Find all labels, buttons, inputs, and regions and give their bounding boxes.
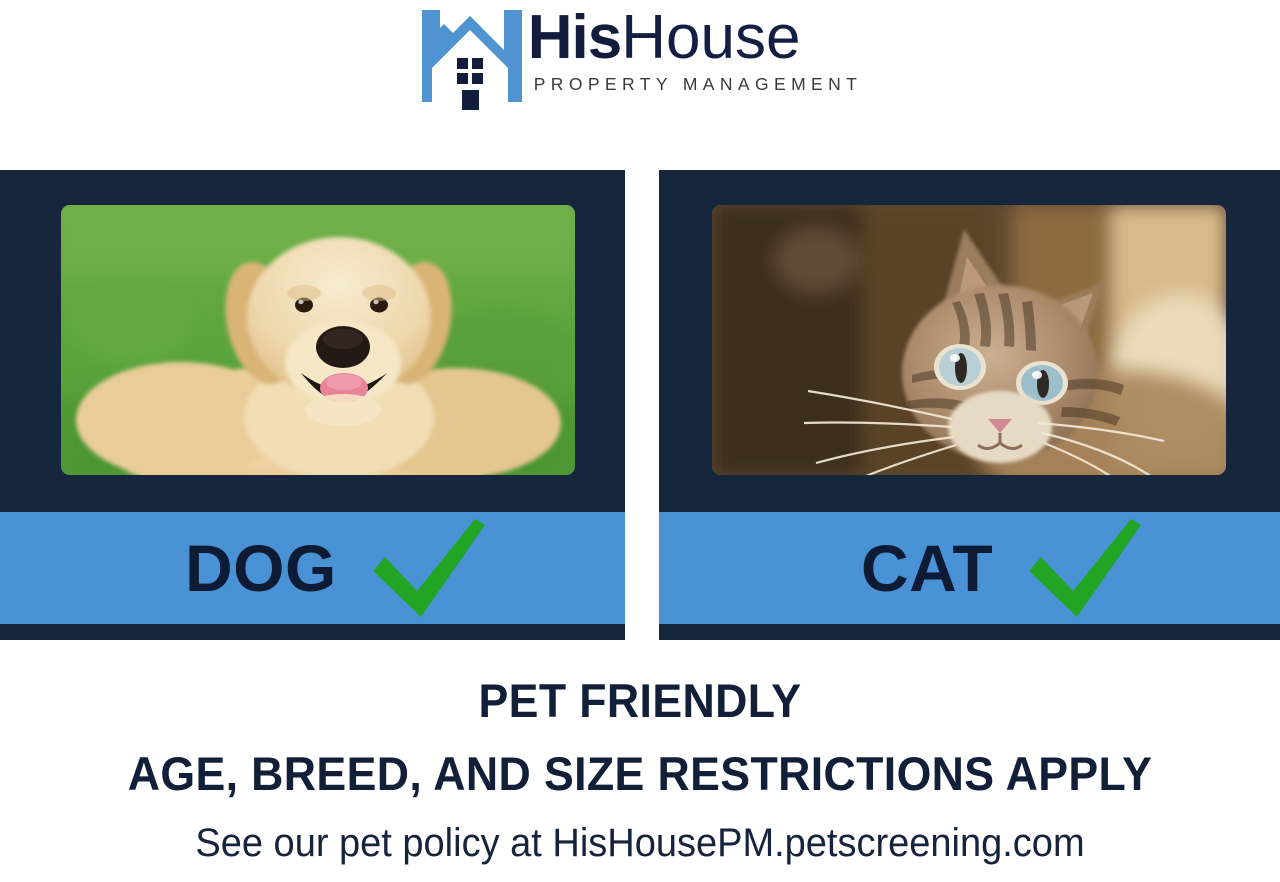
cat-card-footer-bar [659,624,1280,640]
green-check-icon [371,519,487,619]
cat-label-row: CAT [659,517,1143,619]
brand-name: His House [528,8,863,69]
pet-card-cat: CAT [659,170,1280,640]
green-check-icon [1027,519,1143,619]
policy-text-block: PET FRIENDLY AGE, BREED, AND SIZE RESTRI… [0,672,1280,867]
headline-pet-friendly: PET FRIENDLY [32,672,1248,729]
pet-policy-flyer: His House PROPERTY MANAGEMENT [0,0,1280,882]
dog-label: DOG [185,535,337,601]
dog-label-band: DOG [0,512,625,624]
tabby-cat-photo [712,205,1226,475]
headline-restrictions: AGE, BREED, AND SIZE RESTRICTIONS APPLY [32,745,1248,802]
brand-name-light: House [621,8,800,69]
dog-label-row: DOG [0,517,487,619]
brand-tagline: PROPERTY MANAGEMENT [528,74,863,95]
golden-retriever-photo [61,205,575,475]
cat-label: CAT [861,535,993,601]
pet-cards: DOG [0,170,1280,642]
logo-lockup: His House PROPERTY MANAGEMENT [418,4,863,110]
brand-header: His House PROPERTY MANAGEMENT [0,4,1280,116]
pet-policy-link-text[interactable]: See our pet policy at HisHousePM.petscre… [32,819,1248,867]
brand-name-bold: His [528,8,621,69]
cat-label-band: CAT [659,512,1280,624]
pet-card-dog: DOG [0,170,625,640]
brand-wordmark: His House PROPERTY MANAGEMENT [528,4,863,95]
dog-photo-frame [0,170,625,512]
house-logo-icon [418,4,526,110]
dog-card-footer-bar [0,624,625,640]
cat-photo-frame [659,170,1280,512]
